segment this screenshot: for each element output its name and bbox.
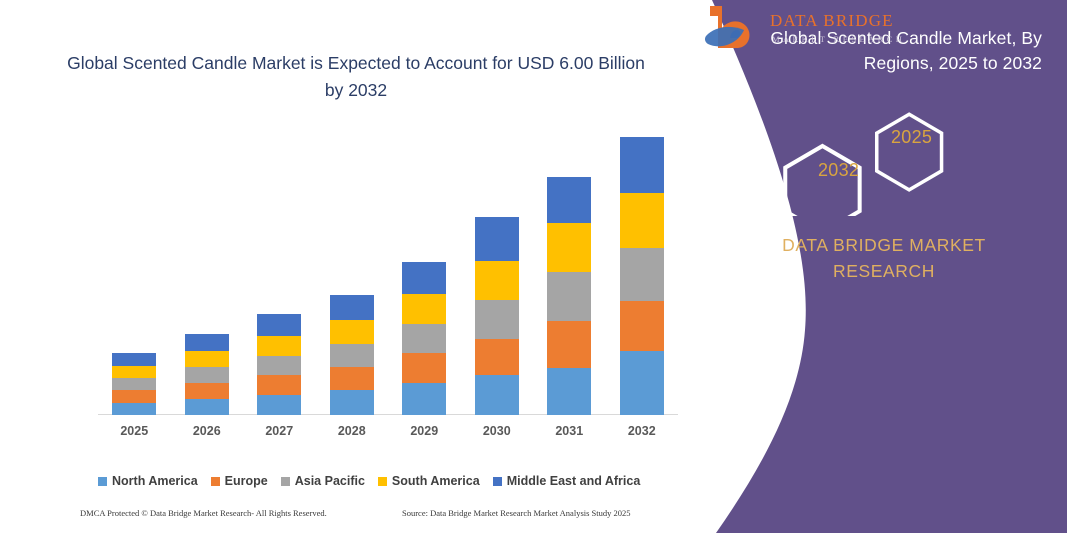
bar-segment: [475, 300, 519, 339]
bar-segment: [257, 356, 301, 375]
bar-segment: [112, 403, 156, 416]
bar-segment: [620, 248, 664, 301]
bar-segment: [402, 294, 446, 324]
x-axis-label: 2027: [244, 424, 314, 438]
legend-item[interactable]: Asia Pacific: [281, 474, 365, 488]
bar-segment: [257, 336, 301, 356]
bar-segment: [475, 261, 519, 300]
chart-title: Global Scented Candle Market is Expected…: [56, 50, 656, 104]
legend-label: North America: [112, 474, 198, 488]
logo-wordmark: DATA BRIDGE: [770, 11, 894, 30]
bar-segment: [330, 367, 374, 390]
bar-segment: [402, 353, 446, 382]
x-axis-label: 2029: [389, 424, 459, 438]
brand-panel: Global Scented Candle Market, By Regions…: [700, 0, 1067, 533]
bar-segment: [402, 324, 446, 353]
bar-segment: [112, 366, 156, 379]
data-bridge-logo: DATA BRIDGE MARKET RESEARCH: [700, 0, 920, 52]
bar-segment: [620, 137, 664, 193]
x-axis-label: 2032: [607, 424, 677, 438]
bar-segment: [620, 301, 664, 351]
hexagon-2025-shape: [877, 114, 942, 190]
bar-segment: [402, 383, 446, 415]
footer: DMCA Protected © Data Bridge Market Rese…: [80, 508, 680, 524]
legend-label: Europe: [225, 474, 268, 488]
legend-label: Asia Pacific: [295, 474, 365, 488]
bar-segment: [185, 383, 229, 399]
legend-swatch-icon: [98, 477, 107, 486]
bar-2025: [112, 353, 156, 415]
bar-segment: [547, 321, 591, 368]
hexagon-2032-label: 2032: [818, 160, 859, 181]
legend-item[interactable]: North America: [98, 474, 198, 488]
hexagon-2032-shape: [785, 146, 859, 216]
x-axis-label: 2028: [317, 424, 387, 438]
legend-swatch-icon: [493, 477, 502, 486]
chart-legend: North AmericaEuropeAsia PacificSouth Ame…: [98, 472, 698, 490]
bar-segment: [185, 399, 229, 415]
bar-2028: [330, 295, 374, 415]
x-axis-label: 2030: [462, 424, 532, 438]
x-axis-label: 2031: [534, 424, 604, 438]
bar-segment: [475, 375, 519, 415]
legend-item[interactable]: Middle East and Africa: [493, 474, 641, 488]
legend-label: South America: [392, 474, 480, 488]
bar-segment: [330, 295, 374, 320]
bar-segment: [185, 367, 229, 383]
bar-segment: [475, 217, 519, 261]
footer-copyright: DMCA Protected © Data Bridge Market Rese…: [80, 508, 327, 518]
bar-segment: [185, 334, 229, 351]
bar-2031: [547, 177, 591, 415]
stacked-bar-plot: [98, 110, 678, 415]
legend-item[interactable]: South America: [378, 474, 480, 488]
hexagon-group: 2025 2032: [700, 104, 1067, 216]
panel-content: Global Scented Candle Market, By Regions…: [700, 0, 1067, 533]
bar-segment: [547, 177, 591, 223]
bar-segment: [330, 320, 374, 344]
bar-2029: [402, 262, 446, 415]
bar-segment: [112, 390, 156, 402]
x-axis-labels: 20252026202720282029203020312032: [98, 424, 678, 444]
bar-segment: [330, 344, 374, 367]
chart-panel: Global Scented Candle Market is Expected…: [0, 0, 712, 533]
bar-segment: [185, 351, 229, 367]
bar-segment: [475, 339, 519, 376]
bar-2026: [185, 334, 229, 415]
bar-segment: [547, 223, 591, 272]
brand-name-text: DATA BRIDGE MARKET RESEARCH: [734, 232, 1034, 284]
bar-segment: [257, 395, 301, 415]
bar-segment: [547, 368, 591, 415]
legend-label: Middle East and Africa: [507, 474, 641, 488]
bar-segment: [620, 193, 664, 248]
legend-swatch-icon: [281, 477, 290, 486]
legend-swatch-icon: [378, 477, 387, 486]
bar-segment: [330, 390, 374, 415]
bar-segment: [620, 351, 664, 415]
bar-segment: [257, 375, 301, 394]
bar-segment: [402, 262, 446, 294]
hexagon-2025-label: 2025: [891, 127, 932, 148]
bar-2030: [475, 217, 519, 415]
bar-segment: [257, 314, 301, 336]
logo-tagline: MARKET RESEARCH: [772, 34, 905, 44]
hexagon-outlines: [700, 104, 1067, 216]
bar-2032: [620, 137, 664, 415]
infographic-canvas: Global Scented Candle Market is Expected…: [0, 0, 1067, 533]
bar-segment: [112, 353, 156, 366]
legend-swatch-icon: [211, 477, 220, 486]
bar-segment: [547, 272, 591, 321]
x-axis-label: 2026: [172, 424, 242, 438]
footer-source: Source: Data Bridge Market Research Mark…: [402, 508, 631, 518]
x-axis-label: 2025: [99, 424, 169, 438]
bar-segment: [112, 378, 156, 390]
bar-2027: [257, 314, 301, 415]
legend-item[interactable]: Europe: [211, 474, 268, 488]
